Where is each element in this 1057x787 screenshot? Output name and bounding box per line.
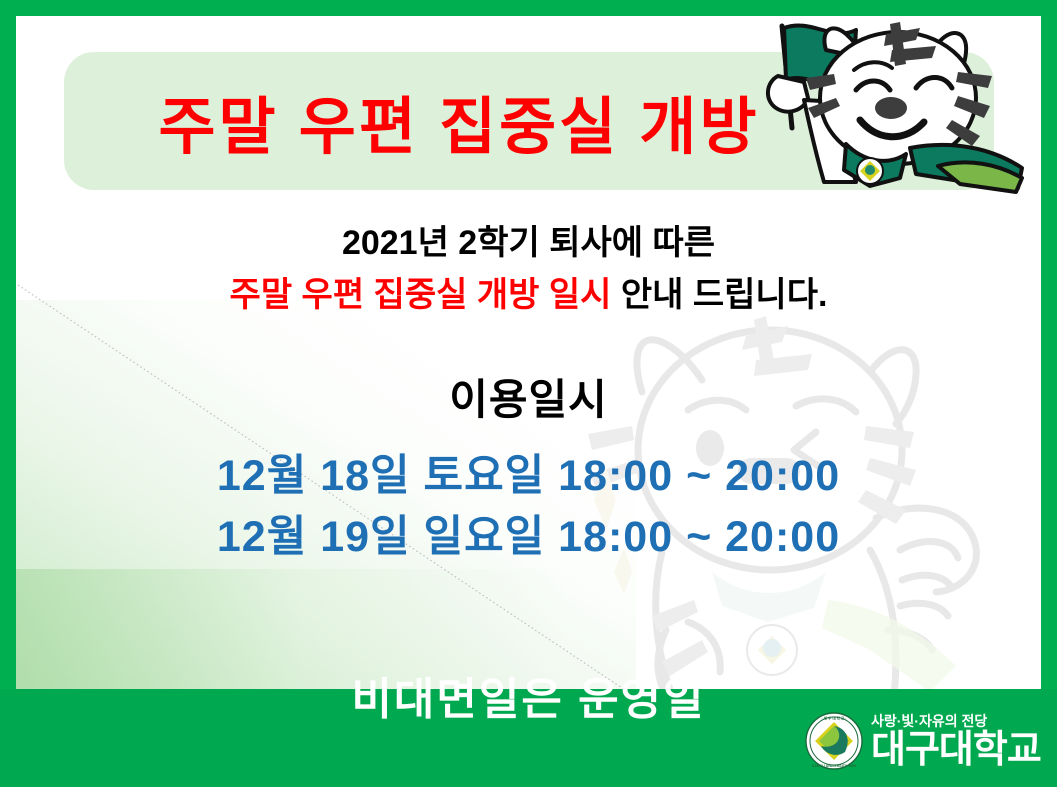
logo-tagline: 사랑·빛·자유의 전당 — [871, 714, 1041, 728]
frame-right — [1041, 0, 1057, 787]
intro-line-1: 2021년 2학기 퇴사에 따른 — [16, 222, 1041, 266]
university-logo-lockup: · 대 구 대 학 교 · DAEGU UNIVERSITY 1956 사랑·빛… — [805, 703, 1033, 779]
intro-text-block: 2021년 2학기 퇴사에 따른 주말 우편 집중실 개방 일시 안내 드립니다… — [16, 222, 1041, 317]
schedule-row: 12월 19일 일요일 18:00 ~ 20:00 — [16, 507, 1041, 568]
poster-canvas: 주말 우편 집중실 개방 — [0, 0, 1057, 787]
background-green-wash-bottom — [16, 569, 966, 689]
schedule-block: 이용일시 12월 18일 토요일 18:00 ~ 20:00 12월 19일 일… — [16, 376, 1041, 568]
schedule-heading: 이용일시 — [16, 376, 1041, 424]
frame-top — [0, 0, 1057, 16]
svg-text:· 대 구 대 학 교 ·: · 대 구 대 학 교 · — [822, 716, 847, 721]
page-title: 주말 우편 집중실 개방 — [64, 52, 854, 190]
logo-wordmark: 사랑·빛·자유의 전당 대구대학교 — [871, 714, 1041, 769]
intro-line-2: 주말 우편 집중실 개방 일시 안내 드립니다. — [16, 274, 1041, 318]
schedule-row: 12월 18일 토요일 18:00 ~ 20:00 — [16, 446, 1041, 507]
intro-rest: 안내 드립니다. — [611, 276, 827, 314]
frame-left — [0, 0, 16, 787]
logo-name: 대구대학교 — [871, 731, 1041, 769]
university-emblem-icon: · 대 구 대 학 교 · DAEGU UNIVERSITY 1956 — [805, 712, 863, 770]
svg-text:DAEGU UNIVERSITY 1956: DAEGU UNIVERSITY 1956 — [812, 764, 856, 768]
intro-highlight: 주말 우편 집중실 개방 일시 — [230, 276, 612, 314]
